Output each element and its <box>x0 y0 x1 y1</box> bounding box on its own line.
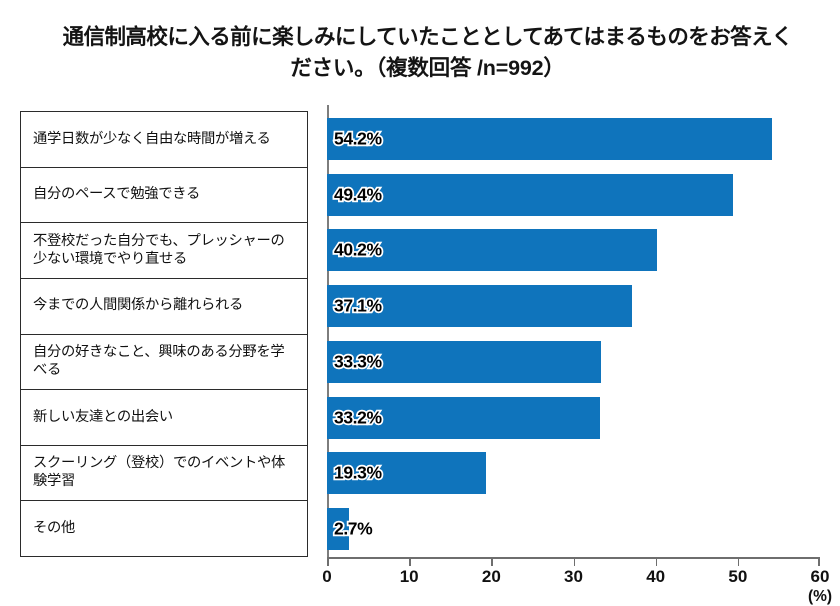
bar[interactable]: 40.2% <box>327 229 657 271</box>
bar-value-text: 40.2% <box>334 240 382 260</box>
bar-value-label: 40.2% <box>334 240 382 261</box>
bar-value-text: 19.3% <box>334 463 382 483</box>
bar-value-label: 49.4% <box>334 184 382 205</box>
category-label: その他 <box>33 520 75 538</box>
bar[interactable]: 19.3% <box>327 452 486 494</box>
table-row: 通学日数が少なく自由な時間が増える <box>21 112 307 168</box>
category-label: 新しい友達との出会い <box>33 409 173 427</box>
bar-value-text: 54.2% <box>334 128 382 148</box>
survey-chart: 通信制高校に入る前に楽しみにしていたこととしてあてはまるものをお答えく ださい。… <box>0 0 840 602</box>
table-row: スクーリング（登校）でのイベントや体験学習 <box>21 446 307 502</box>
x-axis-tick-label: 30 <box>564 567 583 587</box>
table-row: 不登校だった自分でも、プレッシャーの少ない環境でやり直せる <box>21 223 307 279</box>
bar[interactable]: 33.3% <box>327 341 601 383</box>
category-label: スクーリング（登校）でのイベントや体験学習 <box>33 455 298 490</box>
table-row: 今までの人間関係から離れられる <box>21 279 307 335</box>
bar[interactable]: 37.1% <box>327 285 632 327</box>
x-axis-tick <box>327 557 329 566</box>
bar-value-label: 19.3% <box>334 463 382 484</box>
bar-value-label: 54.2% <box>334 128 382 149</box>
category-label-table: 通学日数が少なく自由な時間が増える自分のペースで勉強できる不登校だった自分でも、… <box>20 111 308 557</box>
category-label: 自分のペースで勉強できる <box>33 186 200 204</box>
x-axis-tick <box>574 557 576 566</box>
x-axis-tick-label: 60 <box>811 567 830 587</box>
page-title: 通信制高校に入る前に楽しみにしていたこととしてあてはまるものをお答えく ださい。… <box>40 22 815 83</box>
table-row: 自分の好きなこと、興味のある分野を学べる <box>21 335 307 391</box>
bar-value-label: 37.1% <box>334 296 382 317</box>
category-label: 自分の好きなこと、興味のある分野を学べる <box>33 344 298 379</box>
table-row: その他 <box>21 501 307 556</box>
bar-value-label: 33.2% <box>334 407 382 428</box>
bar[interactable]: 2.7% <box>327 508 349 550</box>
x-axis-tick-label: 10 <box>400 567 419 587</box>
x-axis-unit-label: (%) <box>808 588 832 606</box>
bar-slot: 49.4% <box>327 167 820 223</box>
table-row: 新しい友達との出会い <box>21 390 307 446</box>
category-label: 今までの人間関係から離れられる <box>33 297 243 315</box>
x-axis-tick-label: 40 <box>646 567 665 587</box>
x-axis-tick <box>491 557 493 566</box>
bar-value-text: 37.1% <box>334 296 382 316</box>
bar-value-text: 2.7% <box>334 519 372 539</box>
bar[interactable]: 49.4% <box>327 174 733 216</box>
table-row: 自分のペースで勉強できる <box>21 168 307 224</box>
bar-value-text: 49.4% <box>334 184 382 204</box>
bar-slot: 54.2% <box>327 111 820 167</box>
bar-slot: 33.2% <box>327 390 820 446</box>
bar-slot: 19.3% <box>327 446 820 502</box>
plot-area: 54.2%49.4%40.2%37.1%33.3%33.2%19.3%2.7% <box>327 111 820 557</box>
page-title-line-1: 通信制高校に入る前に楽しみにしていたこととしてあてはまるものをお答えく <box>40 22 815 53</box>
page-title-line-2: ださい。（複数回答 /n=992） <box>40 53 815 84</box>
x-axis-tick-label: 20 <box>482 567 501 587</box>
x-axis-tick <box>409 557 411 566</box>
bar[interactable]: 54.2% <box>327 118 772 160</box>
bar-value-label: 33.3% <box>334 351 382 372</box>
x-axis-tick <box>656 557 658 566</box>
x-axis-tick <box>738 557 740 566</box>
bar-slot: 40.2% <box>327 223 820 279</box>
bars-layer: 54.2%49.4%40.2%37.1%33.3%33.2%19.3%2.7% <box>327 111 820 557</box>
bar-value-text: 33.2% <box>334 407 382 427</box>
bar-value-label: 2.7% <box>334 519 372 540</box>
x-axis-tick <box>818 557 820 566</box>
x-axis-tick-label: 50 <box>728 567 747 587</box>
x-axis-tick-label: 0 <box>322 567 331 587</box>
x-axis: (%) 0102030405060 <box>327 557 820 602</box>
bar-slot: 2.7% <box>327 501 820 557</box>
bar-slot: 33.3% <box>327 334 820 390</box>
bar-value-text: 33.3% <box>334 351 382 371</box>
category-label: 通学日数が少なく自由な時間が増える <box>33 131 271 149</box>
category-label: 不登校だった自分でも、プレッシャーの少ない環境でやり直せる <box>33 233 298 268</box>
bar[interactable]: 33.2% <box>327 397 600 439</box>
bar-slot: 37.1% <box>327 278 820 334</box>
